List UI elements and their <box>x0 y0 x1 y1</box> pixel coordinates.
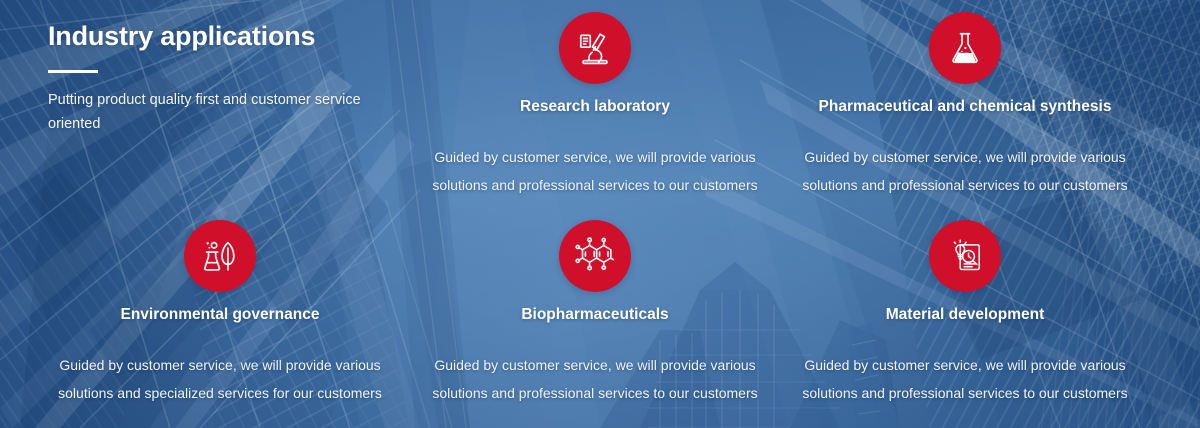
application-cards-grid: Research laboratory Guided by customer s… <box>0 0 1200 428</box>
card-material-development[interactable]: Material development Guided by customer … <box>775 220 1155 407</box>
microscope-icon <box>576 29 614 67</box>
card-title: Research laboratory <box>405 98 785 117</box>
icon-badge <box>559 12 631 84</box>
icon-badge <box>929 12 1001 84</box>
card-title: Biopharmaceuticals <box>405 306 785 325</box>
card-description: Guided by customer service, we will prov… <box>775 351 1155 407</box>
card-description-line-1: Guided by customer service, we will prov… <box>405 143 785 171</box>
card-description: Guided by customer service, we will prov… <box>30 351 410 407</box>
card-description: Guided by customer service, we will prov… <box>775 143 1155 199</box>
card-research-laboratory[interactable]: Research laboratory Guided by customer s… <box>405 12 785 199</box>
card-description: Guided by customer service, we will prov… <box>405 351 785 407</box>
card-description-line-1: Guided by customer service, we will prov… <box>30 351 410 379</box>
flask-leaf-icon <box>201 237 239 275</box>
erlenmeyer-flask-icon <box>947 30 983 66</box>
card-environmental-governance[interactable]: Environmental governance Guided by custo… <box>30 220 410 407</box>
card-description-line-2: solutions and professional services to o… <box>405 171 785 199</box>
card-description-line-2: solutions and professional services to o… <box>775 379 1155 407</box>
card-title: Material development <box>775 306 1155 325</box>
card-description-line-2: solutions and professional services to o… <box>775 171 1155 199</box>
card-biopharmaceuticals[interactable]: Biopharmaceuticals Guided by customer se… <box>405 220 785 407</box>
card-description-line-1: Guided by customer service, we will prov… <box>775 351 1155 379</box>
card-pharmaceutical-and-chemical-synthesis[interactable]: Pharmaceutical and chemical synthesis Gu… <box>775 12 1155 199</box>
icon-badge <box>184 220 256 292</box>
card-description: Guided by customer service, we will prov… <box>405 143 785 199</box>
icon-badge <box>929 220 1001 292</box>
card-description-line-1: Guided by customer service, we will prov… <box>405 351 785 379</box>
card-description-line-1: Guided by customer service, we will prov… <box>775 143 1155 171</box>
banner-content: Industry applications Putting product qu… <box>0 0 1200 428</box>
card-title: Environmental governance <box>30 306 410 325</box>
document-lightbulb-magnifier-icon <box>946 237 984 275</box>
molecule-icon <box>575 236 615 276</box>
card-description-line-2: solutions and professional services to o… <box>405 379 785 407</box>
industry-applications-banner: Industry applications Putting product qu… <box>0 0 1200 428</box>
card-description-line-2: solutions and specialized services for o… <box>30 379 410 407</box>
card-title: Pharmaceutical and chemical synthesis <box>775 98 1155 117</box>
icon-badge <box>559 220 631 292</box>
